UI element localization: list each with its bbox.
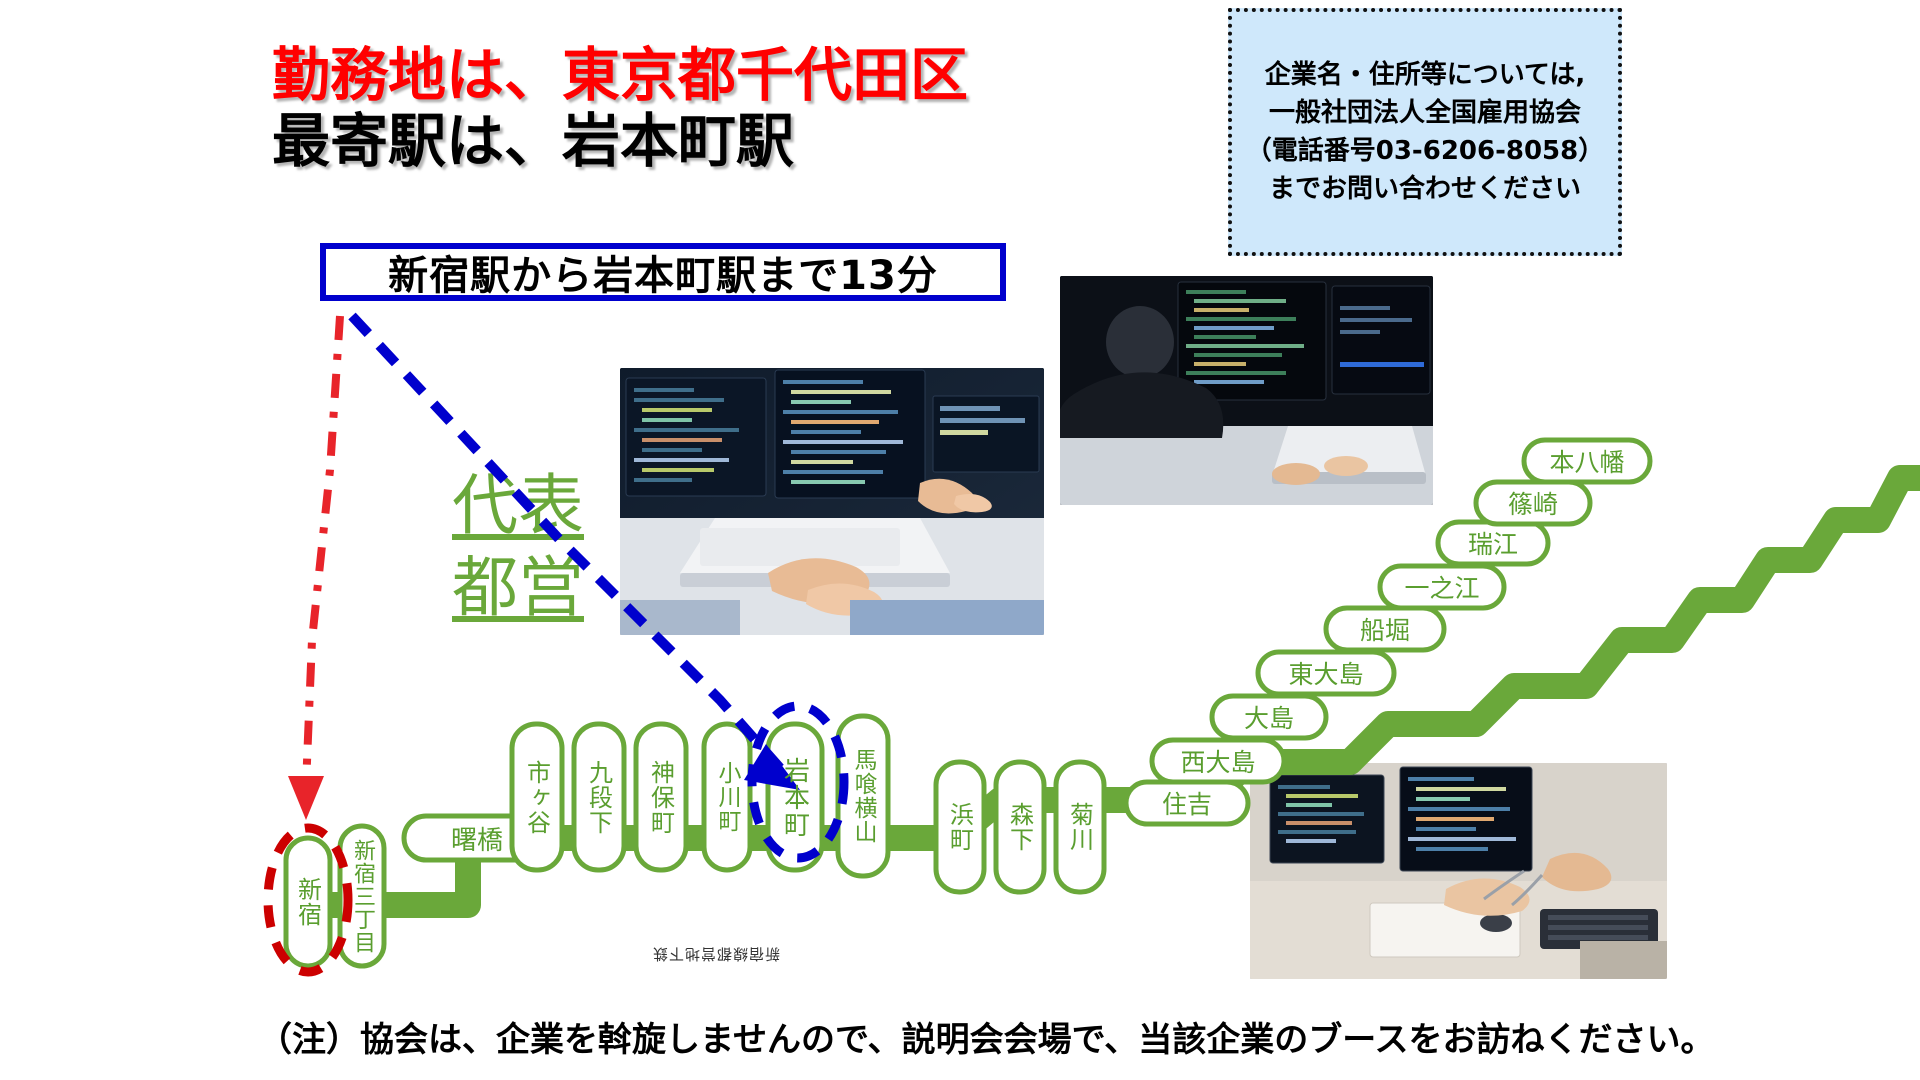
rotated-caption-text: 新宿線都営地下鉄: [652, 944, 780, 965]
destination-arrow: [352, 316, 800, 790]
bottom-note: （注）協会は、企業を斡旋しませんので、説明会会場で、当該企業のブースをお訪ねくだ…: [258, 1012, 1678, 1061]
origin-arrow: [288, 316, 340, 820]
toei-shinjuku-line-map: [0, 0, 1920, 1080]
